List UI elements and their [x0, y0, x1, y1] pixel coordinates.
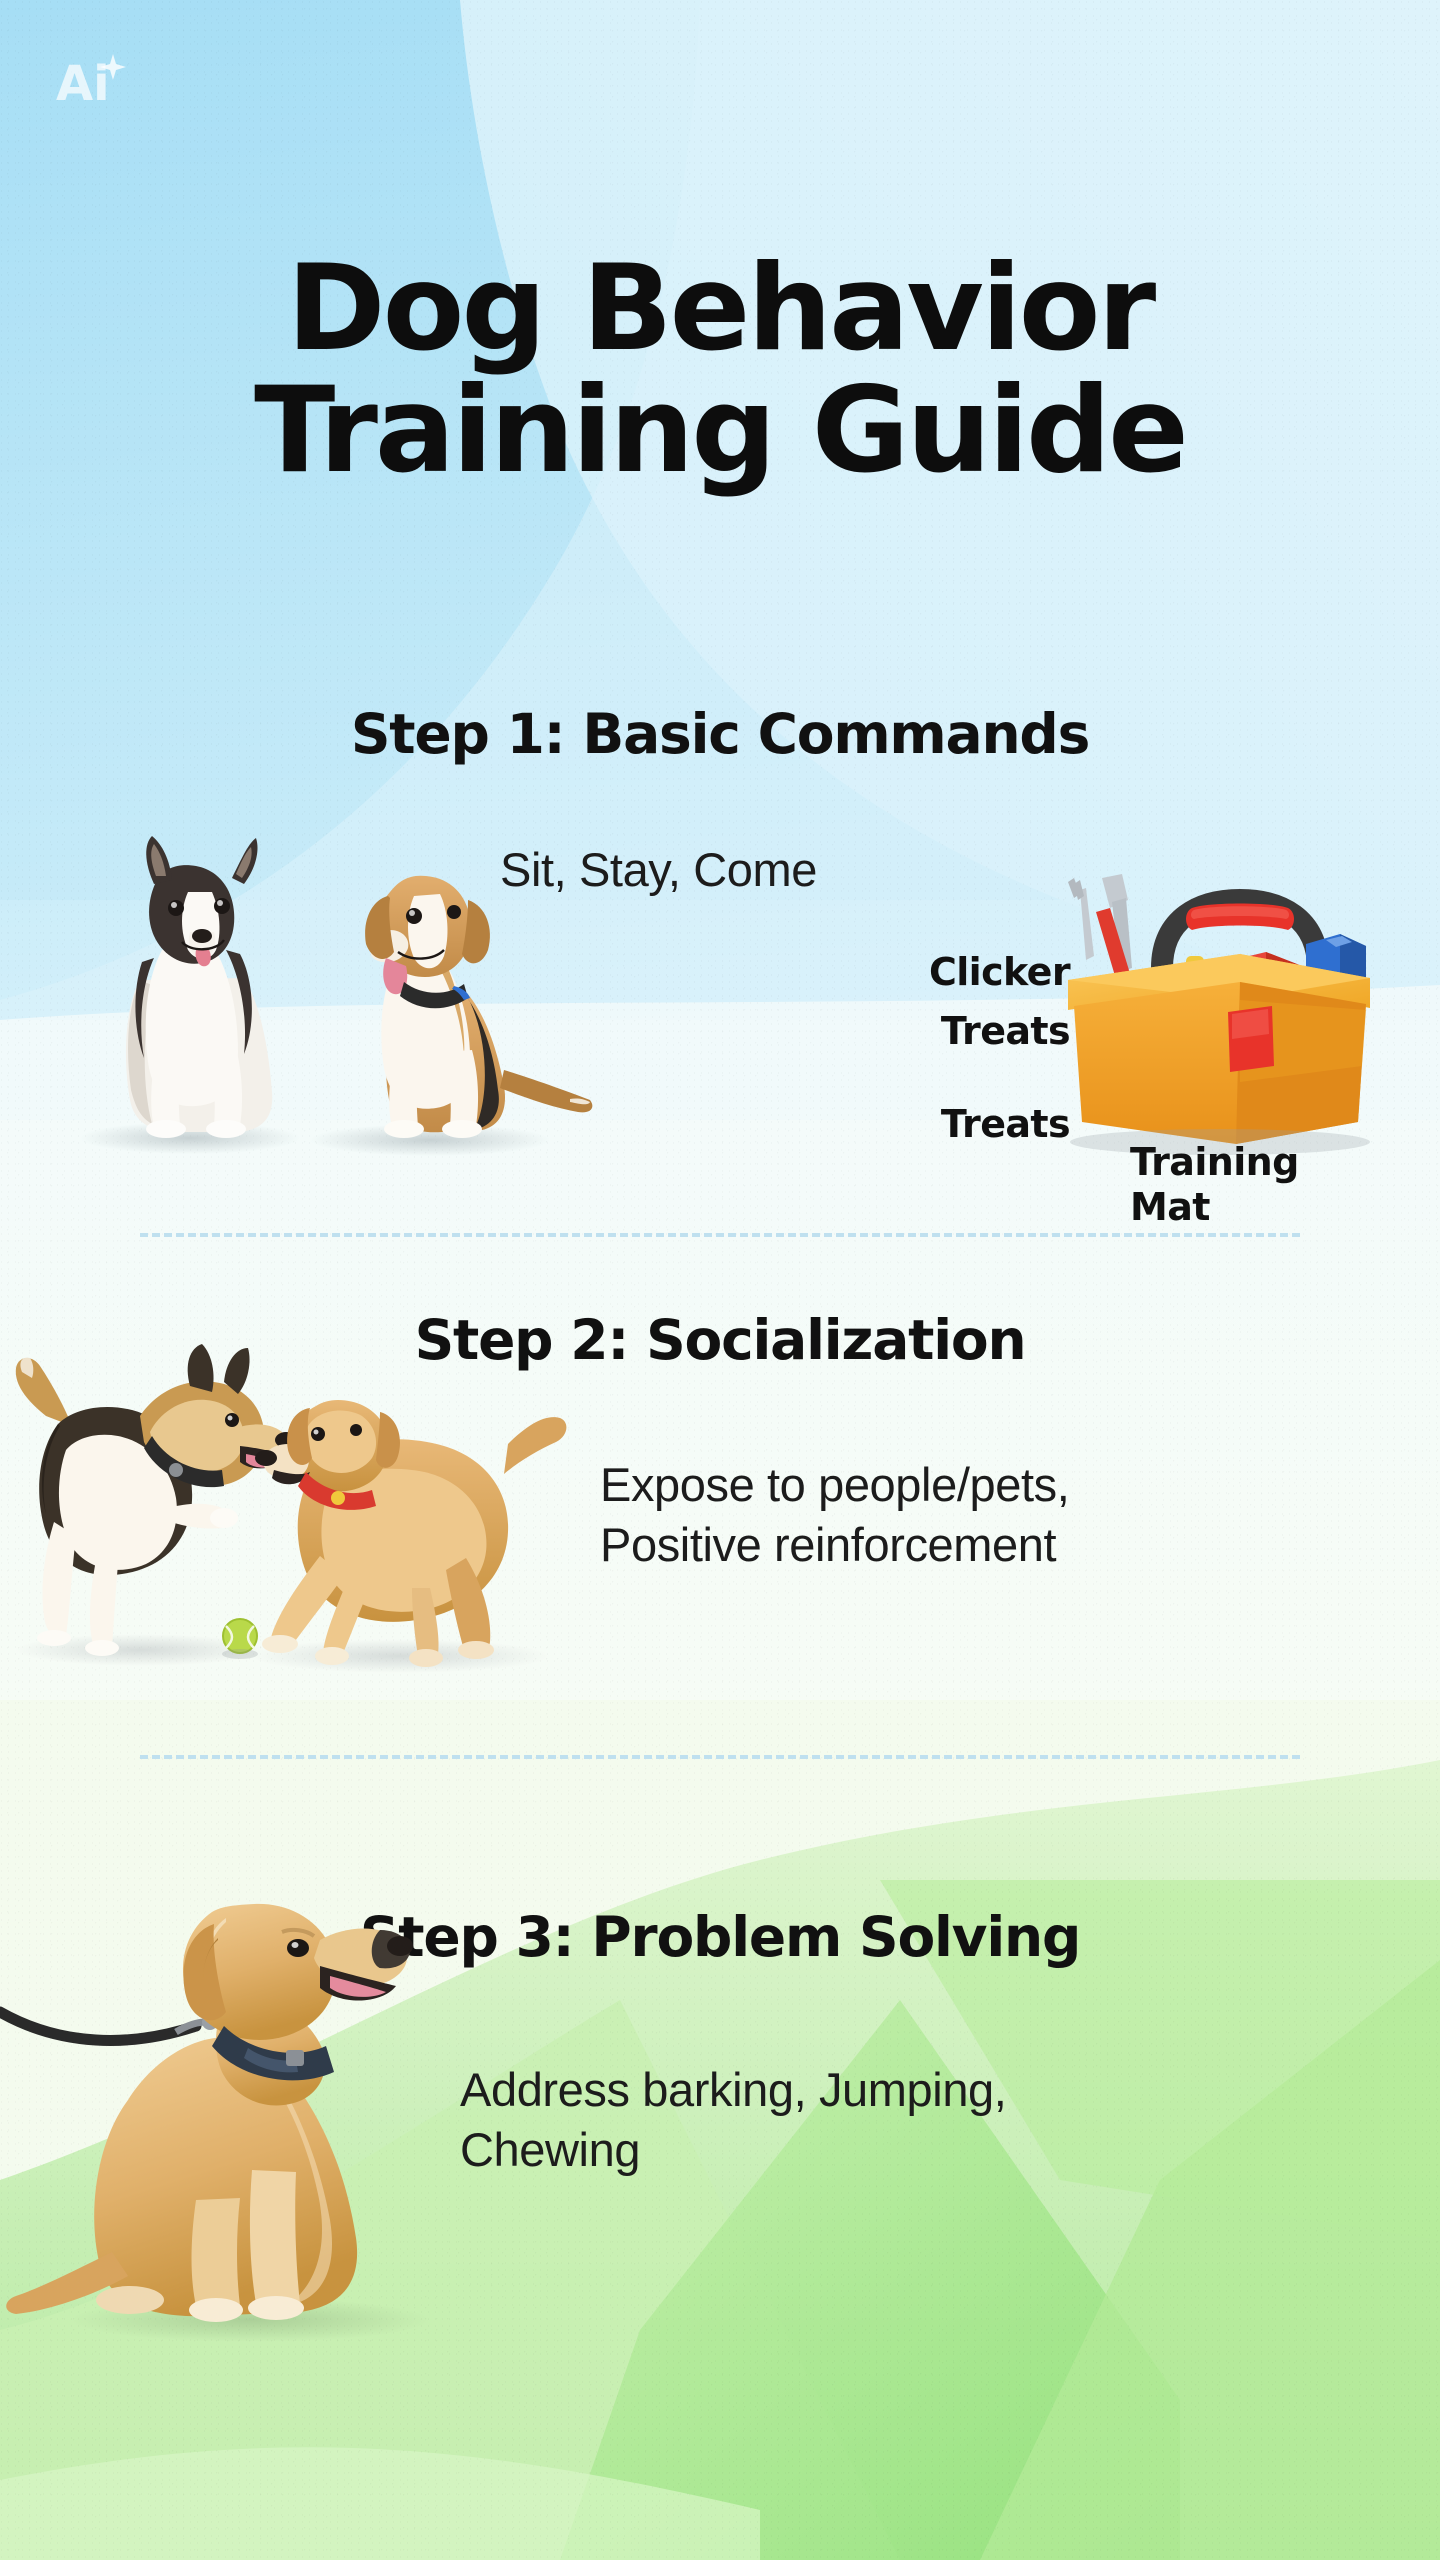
toolbox-label-treats-1: Treats [820, 1009, 1070, 1054]
dog-golden-playing [255, 1400, 566, 1667]
ai-watermark-label: Ai [56, 56, 110, 112]
page-title: Dog Behavior Training Guide [0, 248, 1440, 493]
tennis-ball [222, 1619, 258, 1659]
toolbox-label-training-mat: Training Mat [1130, 1140, 1380, 1230]
page-title-line-2: Training Guide [0, 370, 1440, 493]
step-2-body-line-2: Positive reinforcement [600, 1515, 1300, 1575]
toolbox-label-clicker: Clicker [820, 950, 1070, 995]
dog-leash [0, 2012, 218, 2040]
dog-black-white [126, 836, 272, 1138]
toolbox-tools [1068, 874, 1132, 986]
two-sitting-dogs-illustration [30, 800, 630, 1160]
dog-tan-beagle [365, 876, 592, 1138]
step-3-body-line-2: Chewing [460, 2120, 1260, 2180]
step-1-heading: Step 1: Basic Commands [0, 702, 1440, 766]
two-playing-dogs-illustration [0, 1320, 620, 1680]
training-toolbox-illustration [1040, 860, 1380, 1160]
step-3-body: Address barking, Jumping, Chewing [460, 2060, 1260, 2180]
section-divider-2 [140, 1755, 1300, 1759]
ai-watermark: Ai [56, 48, 136, 118]
step-3-body-line-1: Address barking, Jumping, [460, 2060, 1260, 2120]
section-divider-1 [140, 1233, 1300, 1237]
toolbox-labels: Clicker Treats Treats [820, 950, 1070, 1146]
dog-shepherd-playing [16, 1344, 297, 1656]
step-2-body-line-1: Expose to people/pets, [600, 1455, 1300, 1515]
page-title-line-1: Dog Behavior [0, 248, 1440, 371]
step-2-body: Expose to people/pets, Positive reinforc… [600, 1455, 1300, 1575]
sitting-dog-on-leash-illustration [0, 1800, 520, 2360]
toolbox-label-treats-2: Treats [820, 1102, 1070, 1147]
